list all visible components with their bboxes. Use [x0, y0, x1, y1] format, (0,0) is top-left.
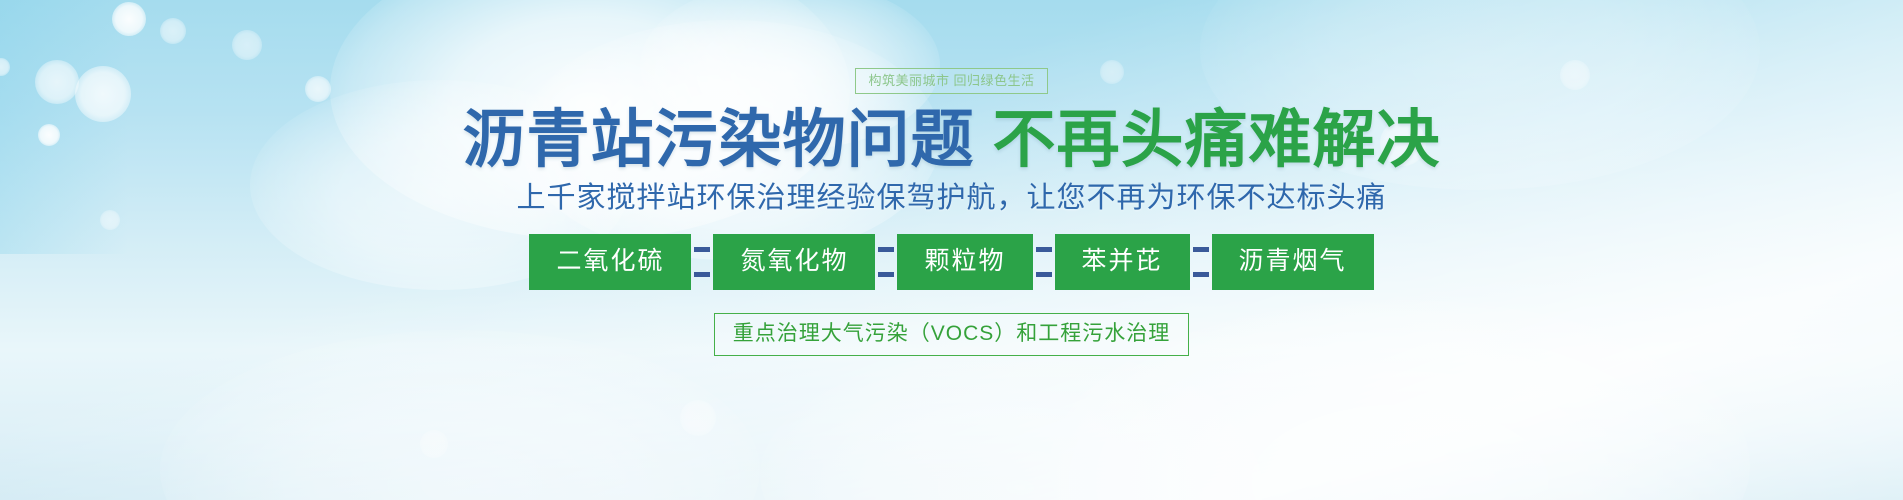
headline-accent: 不再头痛难解决: [993, 103, 1441, 176]
banner-content: 构筑美丽城市 回归绿色生活 沥青站污染物问题不再头痛难解决 上千家搅拌站环保治理…: [0, 0, 1903, 500]
tag-item[interactable]: 氮氧化物: [713, 234, 875, 290]
pollutant-tag-list: 二氧化硫 氮氧化物 颗粒物 苯并芘 沥青烟气: [529, 233, 1373, 291]
page-title: 沥青站污染物问题不再头痛难解决: [463, 108, 1441, 171]
tag-item[interactable]: 颗粒物: [897, 234, 1032, 290]
headline-primary: 沥青站污染物问题: [463, 103, 975, 176]
promo-banner: 构筑美丽城市 回归绿色生活 沥青站污染物问题不再头痛难解决 上千家搅拌站环保治理…: [0, 0, 1903, 500]
tag-item[interactable]: 二氧化硫: [529, 234, 691, 290]
tagline-badge: 构筑美丽城市 回归绿色生活: [855, 68, 1047, 94]
tag-item[interactable]: 苯并芘: [1055, 234, 1190, 290]
tag-separator-icon: [1190, 233, 1212, 291]
tag-item[interactable]: 沥青烟气: [1212, 234, 1374, 290]
footnote-badge: 重点治理大气污染（VOCS）和工程污水治理: [714, 313, 1190, 356]
tag-separator-icon: [691, 233, 713, 291]
page-subtitle: 上千家搅拌站环保治理经验保驾护航，让您不再为环保不达标头痛: [516, 184, 1386, 213]
tag-separator-icon: [875, 233, 897, 291]
tag-separator-icon: [1033, 233, 1055, 291]
